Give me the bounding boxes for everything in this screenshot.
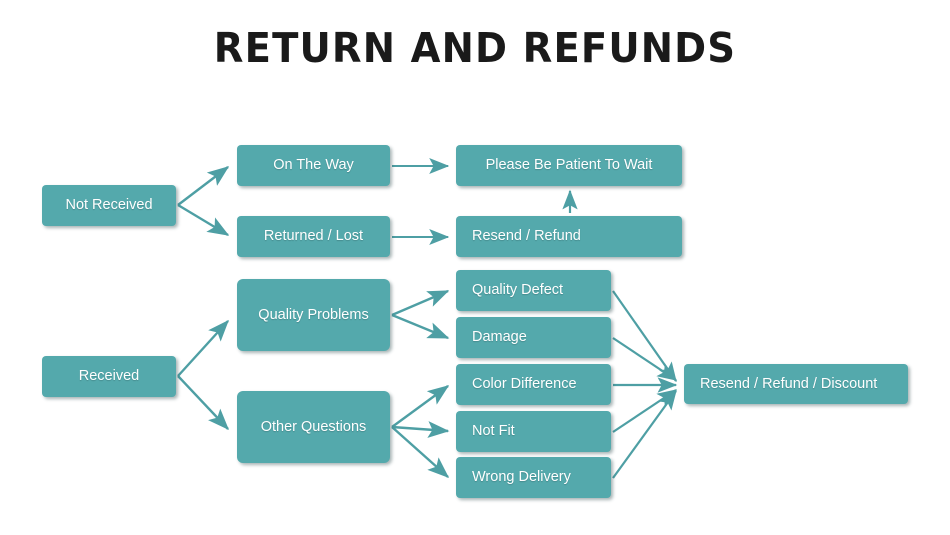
edge-other-questions-to-color-difference [392,386,448,427]
flow-node-label: Other Questions [261,419,367,436]
flow-node-label: Damage [472,329,527,346]
edge-quality-defect-to-final [613,291,676,381]
flow-node-label: Quality Defect [472,282,563,299]
flow-node-label: Wrong Delivery [472,469,571,486]
edge-other-questions-to-wrong-delivery [392,427,448,477]
flow-node-label: Please Be Patient To Wait [486,157,653,174]
flow-node-label: Not Received [65,197,152,214]
edge-quality-problems-to-quality-defect [392,291,448,315]
edge-wrong-delivery-to-final [613,391,676,478]
flow-node-color-difference[interactable]: Color Difference [456,364,611,405]
edge-damage-to-final [613,338,676,380]
flow-node-label: Resend / Refund / Discount [700,376,877,393]
flow-node-received[interactable]: Received [42,356,176,397]
flow-node-label: Quality Problems [258,307,368,324]
edge-not-received-to-on-the-way [178,167,228,205]
flow-node-not-received[interactable]: Not Received [42,185,176,226]
flow-node-wrong-delivery[interactable]: Wrong Delivery [456,457,611,498]
edge-not-received-to-returned-lost [178,205,228,235]
flow-node-label: Resend / Refund [472,228,581,245]
flow-node-not-fit[interactable]: Not Fit [456,411,611,452]
flow-node-returned-lost[interactable]: Returned / Lost [237,216,390,257]
flow-node-label: Received [79,368,139,385]
flow-node-label: Color Difference [472,376,577,393]
page-title: RETURN AND REFUNDS [29,24,922,72]
title-area: RETURN AND REFUNDS [0,0,950,99]
flow-node-on-the-way[interactable]: On The Way [237,145,390,186]
edge-received-to-other-questions [178,376,228,429]
flow-node-please-be-patient[interactable]: Please Be Patient To Wait [456,145,682,186]
flow-node-label: Not Fit [472,423,515,440]
edge-other-questions-to-not-fit [392,427,448,431]
flow-node-quality-problems[interactable]: Quality Problems [237,279,390,351]
edge-received-to-quality-problems [178,321,228,376]
edge-quality-problems-to-damage [392,315,448,338]
flow-node-resend-refund[interactable]: Resend / Refund [456,216,682,257]
flow-node-resend-refund-discount[interactable]: Resend / Refund / Discount [684,364,908,404]
flowchart-canvas: Not ReceivedOn The WayReturned / LostPle… [0,99,950,535]
flow-node-quality-defect[interactable]: Quality Defect [456,270,611,311]
flow-node-damage[interactable]: Damage [456,317,611,358]
edge-not-fit-to-final [613,390,676,432]
flow-node-other-questions[interactable]: Other Questions [237,391,390,463]
flow-node-label: Returned / Lost [264,228,363,245]
flow-node-label: On The Way [273,157,354,174]
